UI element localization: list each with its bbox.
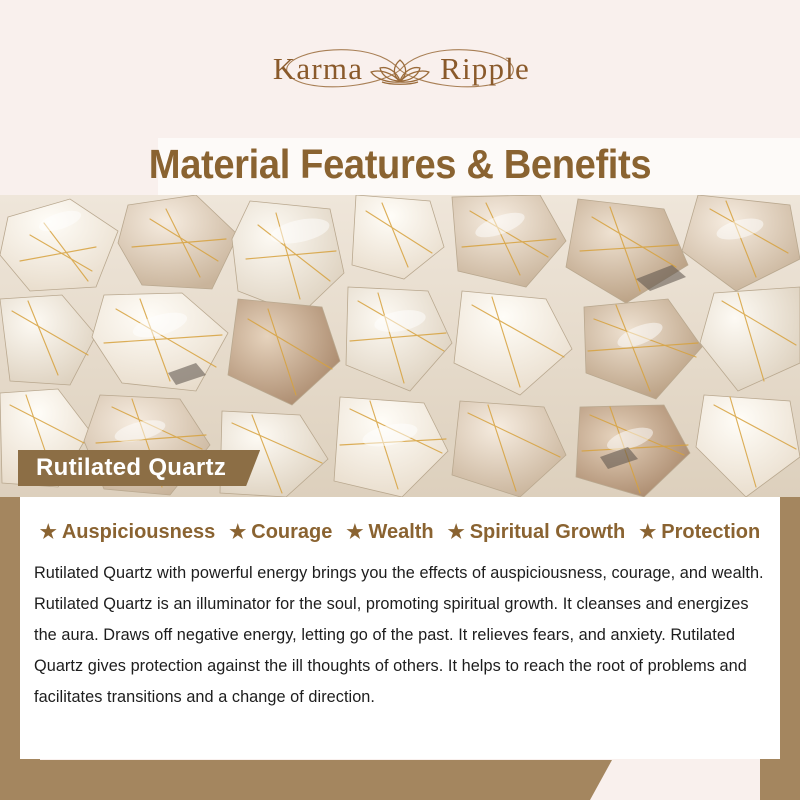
infographic-page: Karma Ripple Material Features & Benefit… [0,0,800,800]
star-icon: ★ [639,523,656,542]
star-icon: ★ [40,523,57,542]
feature-label: Wealth [368,521,433,544]
feature-item-wealth: ★ Wealth [346,521,433,544]
feature-item-spiritual-growth: ★ Spiritual Growth [448,521,626,544]
logo-artwork: Karma Ripple [240,42,560,98]
stone-name-banner: Rutilated Quartz [18,450,260,486]
content-panel: ★ Auspiciousness ★ Courage ★ Wealth ★ Sp… [20,497,780,759]
feature-label: Spiritual Growth [470,521,626,544]
description-paragraph: Rutilated Quartz with powerful energy br… [34,558,766,713]
brand-logo: Karma Ripple [0,42,800,98]
star-icon: ★ [229,523,246,542]
feature-item-protection: ★ Protection [639,521,760,544]
star-icon: ★ [448,523,465,542]
brand-name-right: Ripple [440,51,530,86]
page-title: Material Features & Benefits [28,136,772,192]
brand-name-left: Karma [273,51,363,86]
feature-item-courage: ★ Courage [229,521,332,544]
feature-label: Protection [661,521,760,544]
frame-border-bottom [0,760,800,800]
feature-label: Auspiciousness [62,521,215,544]
frame-corner-notch [0,0,232,40]
feature-list: ★ Auspiciousness ★ Courage ★ Wealth ★ Sp… [20,497,780,544]
lotus-flower-icon [371,60,429,84]
feature-item-auspiciousness: ★ Auspiciousness [40,521,215,544]
star-icon: ★ [346,523,363,542]
feature-label: Courage [251,521,332,544]
